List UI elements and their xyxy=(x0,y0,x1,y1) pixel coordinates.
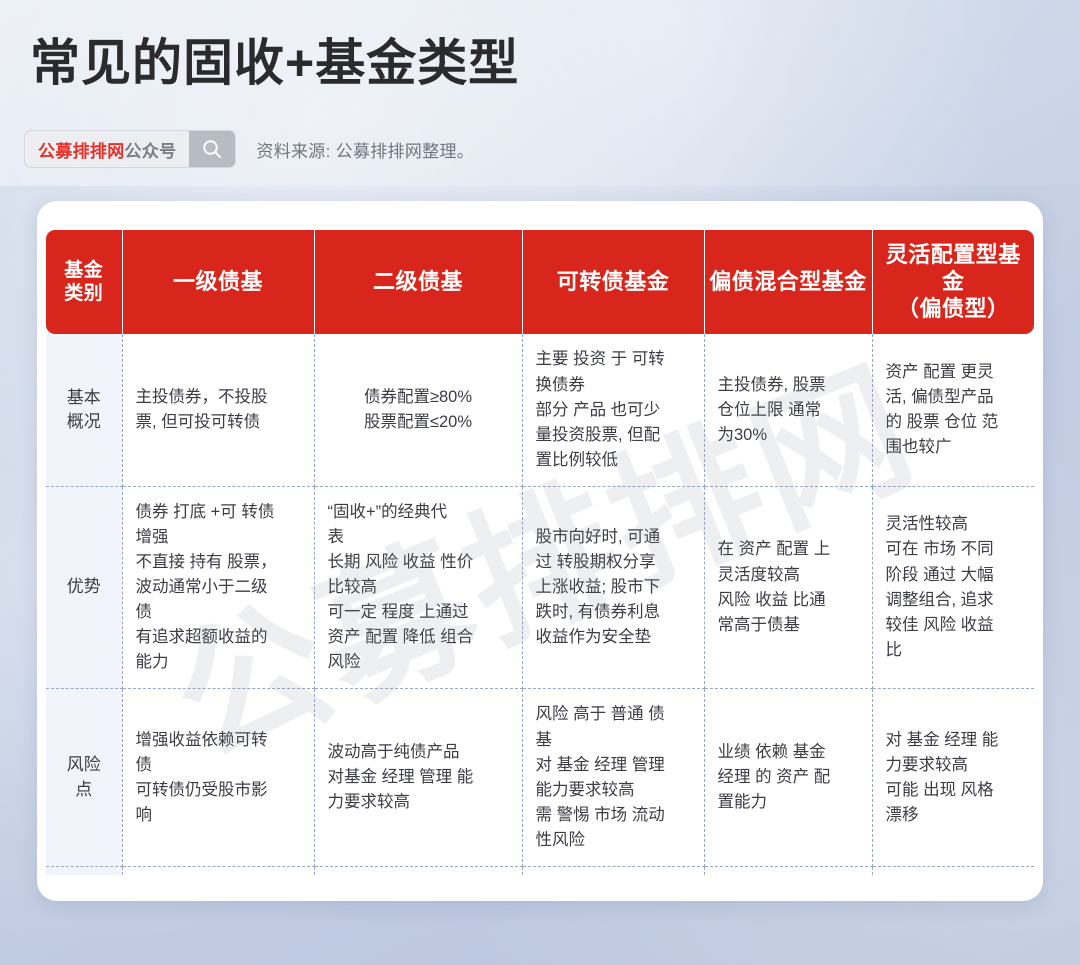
page-header: 常见的固收+基金类型 公募排排网 公众号 资料来源: 公募排排网整理。 xyxy=(0,0,1080,200)
table-cell-r3-c1: 期望 收益 增强 的 纯债投资者希望 降低 组合 波动的权益投资者追求 中长期 … xyxy=(314,866,522,875)
table-cell-r0-c1: 债券配置≥80%股票配置≤20% xyxy=(314,334,522,486)
badge-label: 公募排排网 公众号 xyxy=(25,131,189,167)
table-cell-r0-c4: 资产 配置 更灵活, 偏债型产品的 股票 仓位 范围也较广 xyxy=(872,334,1034,486)
table-cell-r3-c0: 不满足于纯债基金收益，但不愿 直接承受股市高波动的投资者 xyxy=(122,866,314,875)
table-header: 基金类别一级债基二级债基可转债基金偏债混合型基金灵活配置型基金（偏债型） xyxy=(46,230,1034,334)
table-container: 公募排排网 基金类别一级债基二级债基可转债基金偏债混合型基金灵活配置型基金（偏债… xyxy=(46,230,1034,875)
badge-suffix-text: 公众号 xyxy=(125,137,177,162)
table-cell-r1-c2: 股市向好时, 可通过 转股期权分享上涨收益; 股市下跌时, 有债券利息收益作为安… xyxy=(522,486,704,689)
table-cell-r2-c2: 风险 高于 普通 债基对 基金 经理 管理能力要求较高需 警惕 市场 流动性风险 xyxy=(522,689,704,866)
table-cell-r0-c3: 主投债券, 股票仓位上限 通常为30% xyxy=(704,334,872,486)
page-title: 常见的固收+基金类型 xyxy=(30,33,519,93)
table-column-header-2: 二级债基 xyxy=(314,230,522,334)
table-header-row: 基金类别一级债基二级债基可转债基金偏债混合型基金灵活配置型基金（偏债型） xyxy=(46,230,1034,334)
row-header-3: 适配投资者 xyxy=(46,866,122,875)
table-cell-r1-c4: 灵活性较高可在 市场 不同阶段 通过 大幅调整组合, 追求较佳 风险 收益比 xyxy=(872,486,1034,689)
table-cell-r3-c3: 风险 承受 能力尚可, 希望通过配置 较高 比例权益 资产 追求收益的投资者 xyxy=(704,866,872,875)
source-row: 公募排排网 公众号 资料来源: 公募排排网整理。 xyxy=(24,130,474,168)
wechat-account-badge[interactable]: 公募排排网 公众号 xyxy=(24,130,236,168)
source-note: 资料来源: 公募排排网整理。 xyxy=(256,137,474,162)
table-column-header-5: 灵活配置型基金（偏债型） xyxy=(872,230,1034,334)
badge-brand-text: 公募排排网 xyxy=(38,137,125,162)
table-row: 适配投资者不满足于纯债基金收益，但不愿 直接承受股市高波动的投资者期望 收益 增… xyxy=(46,866,1034,875)
table-row: 风险点增强收益依赖可转债可转债仍受股市影响波动高于纯债产品对基金 经理 管理 能… xyxy=(46,689,1034,866)
table-cell-r2-c1: 波动高于纯债产品对基金 经理 管理 能力要求较高 xyxy=(314,689,522,866)
fund-types-table: 基金类别一级债基二级债基可转债基金偏债混合型基金灵活配置型基金（偏债型） 基本概… xyxy=(46,230,1034,875)
table-column-header-0: 基金类别 xyxy=(46,230,122,334)
table-column-header-1: 一级债基 xyxy=(122,230,314,334)
table-body: 基本概况主投债券，不投股票, 但可投可转债债券配置≥80%股票配置≤20%主要 … xyxy=(46,334,1034,875)
table-column-header-4: 偏债混合型基金 xyxy=(704,230,872,334)
table-cell-r2-c4: 对 基金 经理 能力要求较高可能 出现 风格漂移 xyxy=(872,689,1034,866)
table-row: 优势债券 打底 +可 转债增强不直接 持有 股票，波动通常小于二级债有追求超额收… xyxy=(46,486,1034,689)
table-cell-r0-c0: 主投债券，不投股票, 但可投可转债 xyxy=(122,334,314,486)
row-header-0: 基本概况 xyxy=(46,334,122,486)
table-cell-r1-c3: 在 资产 配置 上灵活度较高风险 收益 比通常高于债基 xyxy=(704,486,872,689)
table-cell-r3-c4: 适合 信任 基金经理 资产 配置能力, 并能承受一定 风险 的 投资者 xyxy=(872,866,1034,875)
row-header-2: 风险点 xyxy=(46,689,122,866)
table-row: 基本概况主投债券，不投股票, 但可投可转债债券配置≥80%股票配置≤20%主要 … xyxy=(46,334,1034,486)
row-header-1: 优势 xyxy=(46,486,122,689)
table-cell-r2-c0: 增强收益依赖可转债可转债仍受股市影响 xyxy=(122,689,314,866)
table-cell-r2-c3: 业绩 依赖 基金经理 的 资产 配置能力 xyxy=(704,689,872,866)
table-cell-r3-c2: 希望 分享 股市 收益 但又 想控制 下行 风险 的 中等 风险偏好投资者 xyxy=(522,866,704,875)
table-column-header-3: 可转债基金 xyxy=(522,230,704,334)
table-cell-r1-c1: “固收+”的经典代表长期 风险 收益 性价比较高可一定 程度 上通过资产 配置 … xyxy=(314,486,522,689)
search-icon[interactable] xyxy=(189,131,235,167)
table-cell-r1-c0: 债券 打底 +可 转债增强不直接 持有 股票，波动通常小于二级债有追求超额收益的… xyxy=(122,486,314,689)
table-cell-r0-c2: 主要 投资 于 可转换债券部分 产品 也可少量投资股票, 但配置比例较低 xyxy=(522,334,704,486)
